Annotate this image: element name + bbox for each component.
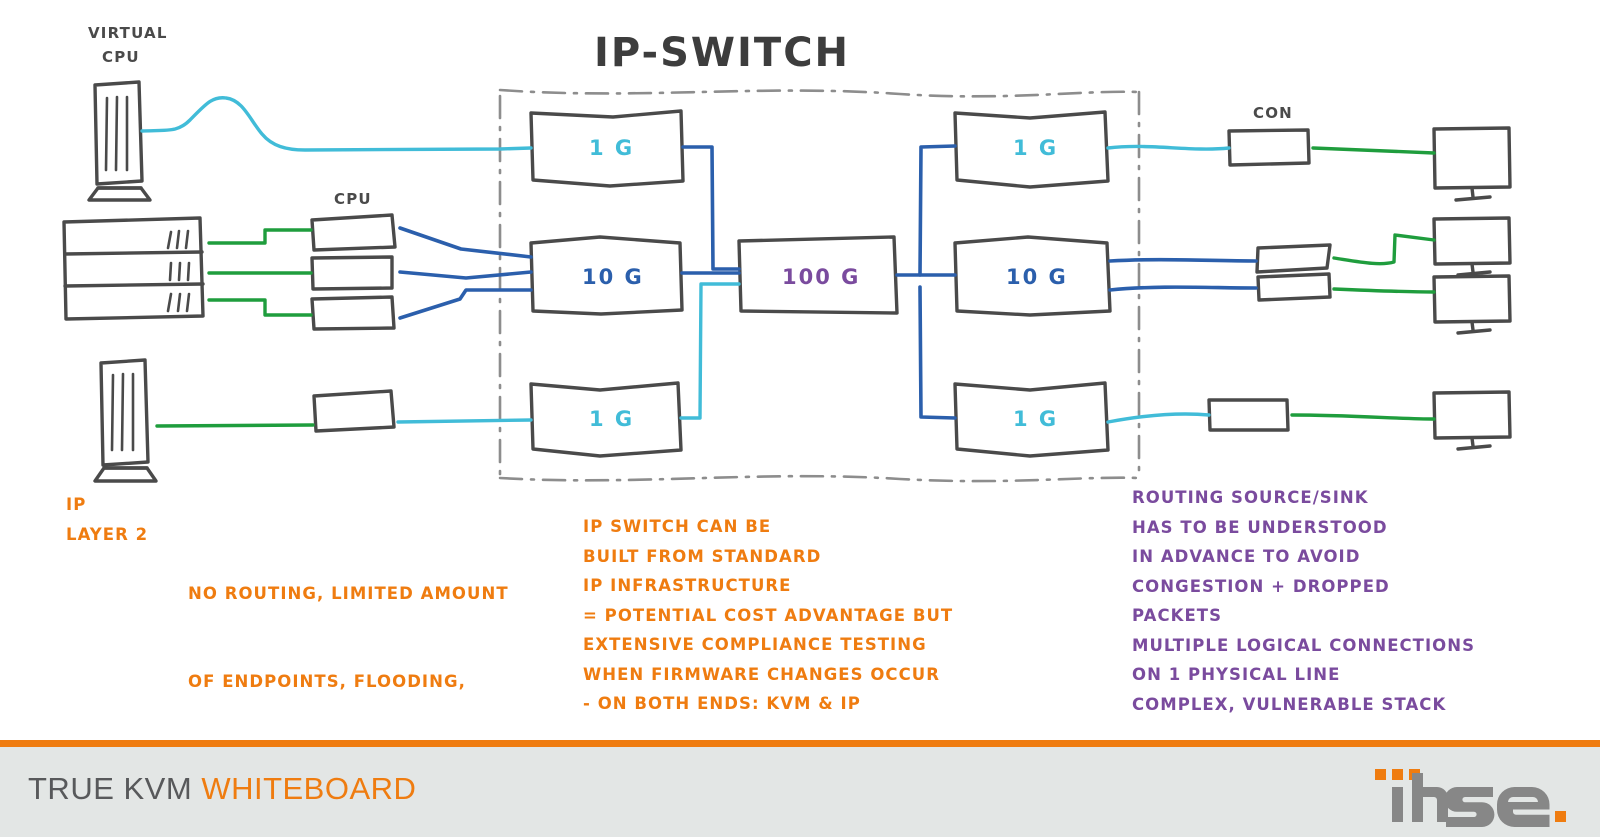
switch-speed-left-10g: 10 G <box>582 265 644 289</box>
link-cpu-to-10g <box>400 228 531 318</box>
link-core-to-rightbottom1g <box>920 287 955 418</box>
monitor-bottom-right <box>1434 392 1510 449</box>
link-leftbottom1g-to-core <box>681 284 739 418</box>
notes-left-heading: IP <box>66 490 572 520</box>
link-con-to-monitor <box>1313 148 1434 153</box>
switch-speed-right-10g: 10 G <box>1006 265 1068 289</box>
note-line: IP INFRASTRUCTURE <box>583 571 953 601</box>
note-line: - ON BOTH ENDS: KVM & IP <box>583 689 953 719</box>
switch-speed-right-1g-bottom: 1 G <box>1013 407 1058 431</box>
switch-speed-right-1g: 1 G <box>1013 136 1058 160</box>
footer-title-orange: WHITEBOARD <box>201 771 416 806</box>
note-line: CONGESTION + DROPPED <box>1132 572 1475 602</box>
note-line: EXTENSIVE COMPLIANCE TESTING <box>583 630 953 660</box>
link-box-to-bottom-monitor <box>1292 415 1434 419</box>
note-line: ON 1 PHYSICAL LINE <box>1132 660 1475 690</box>
switch-speed-left-1g: 1 G <box>589 136 634 160</box>
ihse-logo <box>1359 763 1574 831</box>
note-line: = POTENTIAL COST ADVANTAGE BUT <box>583 601 953 631</box>
link-right1g-to-con <box>1108 146 1229 149</box>
note-line: COMPLEX, VULNERABLE STACK <box>1132 690 1475 720</box>
virtual-cpu-tower <box>89 82 150 200</box>
bottom-left-box <box>314 391 394 431</box>
note-line: HAS TO BE UNDERSTOOD <box>1132 513 1475 543</box>
monitor-top-right <box>1434 128 1510 200</box>
page-title: IP-SWITCH <box>594 30 850 76</box>
link-tower-to-box <box>157 425 313 426</box>
link-right10g-to-boxes <box>1110 260 1256 290</box>
bottom-right-box <box>1209 400 1288 430</box>
link-rack-to-cpu <box>209 230 311 315</box>
monitor-mid-right-upper <box>1434 218 1510 275</box>
note-line: IN ADVANCE TO AVOID <box>1132 542 1475 572</box>
note-line: IP SWITCH CAN BE <box>583 512 953 542</box>
link-box-to-bottom-1g <box>398 420 531 422</box>
right-box-group <box>1257 245 1330 300</box>
cpu-label: CPU <box>334 190 372 208</box>
note-line: WHEN FIRMWARE CHANGES OCCUR <box>583 660 953 690</box>
link-core-to-right1g <box>920 146 955 275</box>
bottom-cpu-tower <box>95 360 156 481</box>
switch-speed-core-100g: 100 G <box>782 265 860 289</box>
notes-middle: IP SWITCH CAN BE BUILT FROM STANDARD IP … <box>583 512 953 719</box>
note-line: BUILT FROM STANDARD <box>583 542 953 572</box>
whiteboard-page: .ink { stroke:#4a4a4a; stroke-width:3.4;… <box>0 0 1600 837</box>
server-rack <box>64 218 203 319</box>
logo-dot <box>1555 811 1566 822</box>
cpu-box-group <box>312 215 395 329</box>
logo-wordmark <box>1392 773 1550 827</box>
note-line: ROUTING SOURCE/SINK <box>1132 483 1475 513</box>
link-rightbottom1g-to-box <box>1108 414 1209 422</box>
link-left1g-to-core <box>683 147 739 269</box>
footer-title-space <box>192 771 201 806</box>
footer-title: TRUE KVM WHITEBOARD <box>28 771 416 807</box>
note-line: MULTIPLE LOGICAL CONNECTIONS <box>1132 631 1475 661</box>
footer-bar: TRUE KVM WHITEBOARD <box>0 740 1600 837</box>
switch-speed-left-1g-bottom: 1 G <box>589 407 634 431</box>
link-virtualcpu-to-1g <box>142 98 531 150</box>
note-line: PACKETS <box>1132 601 1475 631</box>
link-rightboxes-to-monitors <box>1334 235 1434 292</box>
monitor-mid-right-lower <box>1434 276 1510 333</box>
logo-square-1 <box>1375 769 1386 780</box>
virtual-cpu-label-line1: VIRTUAL <box>88 24 168 42</box>
note-line: NO ROUTING, LIMITED AMOUNT <box>188 579 509 609</box>
logo-square-2 <box>1392 769 1403 780</box>
notes-right: ROUTING SOURCE/SINK HAS TO BE UNDERSTOOD… <box>1132 483 1475 719</box>
con-box <box>1229 130 1309 165</box>
footer-title-dark: TRUE KVM <box>28 771 192 806</box>
note-line: OF ENDPOINTS, FLOODING, <box>188 667 509 697</box>
con-label: CON <box>1253 104 1293 122</box>
virtual-cpu-label-line2: CPU <box>102 48 140 66</box>
